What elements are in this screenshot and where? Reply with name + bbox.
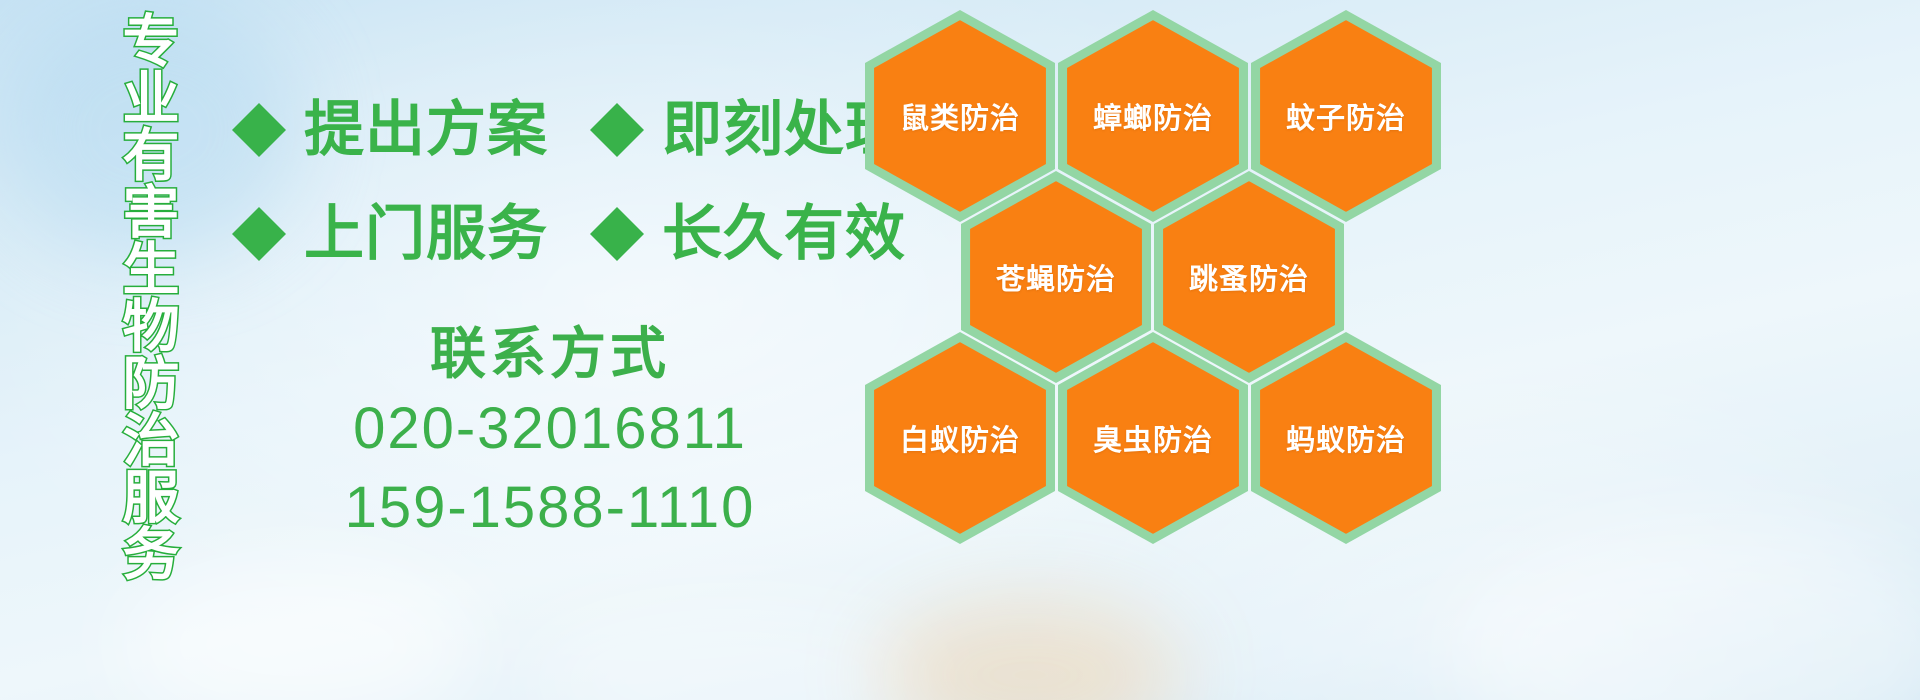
vertical-title-char: 有 <box>123 128 180 185</box>
hex-label: 鼠类防治 <box>900 95 1020 137</box>
vertical-title: 专 业 有 害 生 物 防 治 服 务 <box>108 14 194 554</box>
hex-label: 蟑螂防治 <box>1093 95 1213 137</box>
feature-item: 长久有效 <box>590 204 906 264</box>
hex-service-ant[interactable]: 蚂蚁防治 <box>1251 332 1441 544</box>
vertical-title-char: 害 <box>123 185 180 242</box>
background-blob <box>1450 520 1920 700</box>
pest-control-banner: 专 业 有 害 生 物 防 治 服 务 提出方案 即刻处理 上门服务 <box>0 0 1920 700</box>
hex-label: 苍蝇防治 <box>996 256 1116 298</box>
feature-label: 上门服务 <box>304 204 548 264</box>
diamond-icon <box>590 180 644 234</box>
vertical-title-char: 服 <box>123 470 180 527</box>
hex-label: 臭虫防治 <box>1093 417 1213 459</box>
hex-label: 蚂蚁防治 <box>1286 417 1406 459</box>
feature-item: 上门服务 <box>232 204 548 264</box>
vertical-title-char: 业 <box>123 71 180 128</box>
hex-label: 白蚁防治 <box>900 417 1020 459</box>
vertical-title-char: 治 <box>123 413 180 470</box>
vertical-title-char: 物 <box>123 299 180 356</box>
vertical-title-char: 防 <box>123 356 180 413</box>
diamond-icon <box>232 180 286 234</box>
vertical-title-char: 务 <box>123 527 180 584</box>
service-hex-grid: 鼠类防治 蟑螂防治 蚊子防治 苍蝇防治 跳蚤防治 白蚁防治 <box>860 8 1450 548</box>
hex-label: 蚊子防治 <box>1286 95 1406 137</box>
diamond-icon <box>590 76 644 130</box>
feature-item: 即刻处理 <box>590 100 906 160</box>
diamond-icon <box>232 76 286 130</box>
phone-mobile[interactable]: 159-1588-1110 <box>300 469 800 548</box>
feature-row: 提出方案 即刻处理 <box>232 78 862 182</box>
feature-row: 上门服务 长久有效 <box>232 182 862 286</box>
phone-landline[interactable]: 020-32016811 <box>300 390 800 469</box>
hex-label: 跳蚤防治 <box>1189 256 1309 298</box>
hex-service-bedbug[interactable]: 臭虫防治 <box>1058 332 1248 544</box>
feature-list: 提出方案 即刻处理 上门服务 长久有效 <box>232 78 862 286</box>
contact-title: 联系方式 <box>300 318 800 390</box>
vertical-title-char: 生 <box>123 242 180 299</box>
background-blob <box>520 600 940 700</box>
hex-service-termite[interactable]: 白蚁防治 <box>865 332 1055 544</box>
contact-block: 联系方式 020-32016811 159-1588-1110 <box>300 318 800 547</box>
vertical-title-char: 专 <box>123 14 180 71</box>
background-blob <box>880 600 1180 700</box>
feature-item: 提出方案 <box>232 100 548 160</box>
feature-label: 提出方案 <box>304 100 548 160</box>
